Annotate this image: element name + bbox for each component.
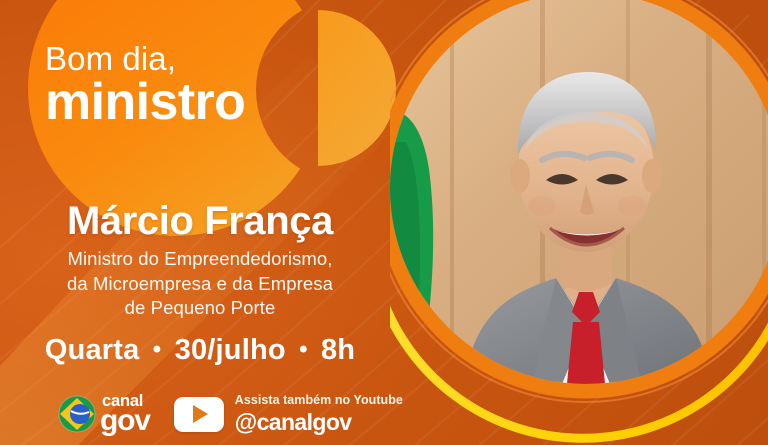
program-greeting: Bom dia, <box>45 42 375 75</box>
footer-bar: canal gov Assista também no Youtube @can… <box>0 383 470 445</box>
youtube-handle: @canalgov <box>235 411 403 434</box>
speaker-name: Márcio França <box>0 200 400 242</box>
schedule-separator-1: • <box>148 336 167 363</box>
youtube-text: Assista também no Youtube @canalgov <box>235 394 403 434</box>
program-logo-text: Bom dia, ministro <box>45 42 375 128</box>
speaker-role-line-2: da Microempresa e da Empresa <box>0 272 400 296</box>
speaker-info-block: Márcio França Ministro do Empreendedoris… <box>0 200 400 367</box>
schedule-day: Quarta <box>45 334 140 366</box>
program-name: ministro <box>45 76 375 128</box>
speaker-role: Ministro do Empreendedorismo, da Microem… <box>0 247 400 320</box>
youtube-callout[interactable]: Assista também no Youtube @canalgov <box>174 394 403 434</box>
youtube-play-icon[interactable] <box>174 397 224 432</box>
canalgov-wordmark: canal gov <box>100 394 150 434</box>
broadcast-promo-card: Bom dia, ministro <box>0 0 768 445</box>
schedule-separator-2: • <box>294 336 313 363</box>
canalgov-word-gov: gov <box>100 408 150 434</box>
brazil-globe-icon <box>58 395 96 433</box>
schedule-line: Quarta • 30/julho • 8h <box>0 334 400 367</box>
schedule-time: 8h <box>321 334 355 366</box>
youtube-prompt: Assista também no Youtube <box>235 394 403 407</box>
speaker-role-line-3: de Pequeno Porte <box>0 296 400 320</box>
speaker-portrait <box>390 0 768 445</box>
play-triangle-icon <box>193 405 208 423</box>
speaker-role-line-1: Ministro do Empreendedorismo, <box>0 247 400 271</box>
schedule-date: 30/julho <box>175 334 286 366</box>
canalgov-logo[interactable]: canal gov <box>58 394 150 434</box>
